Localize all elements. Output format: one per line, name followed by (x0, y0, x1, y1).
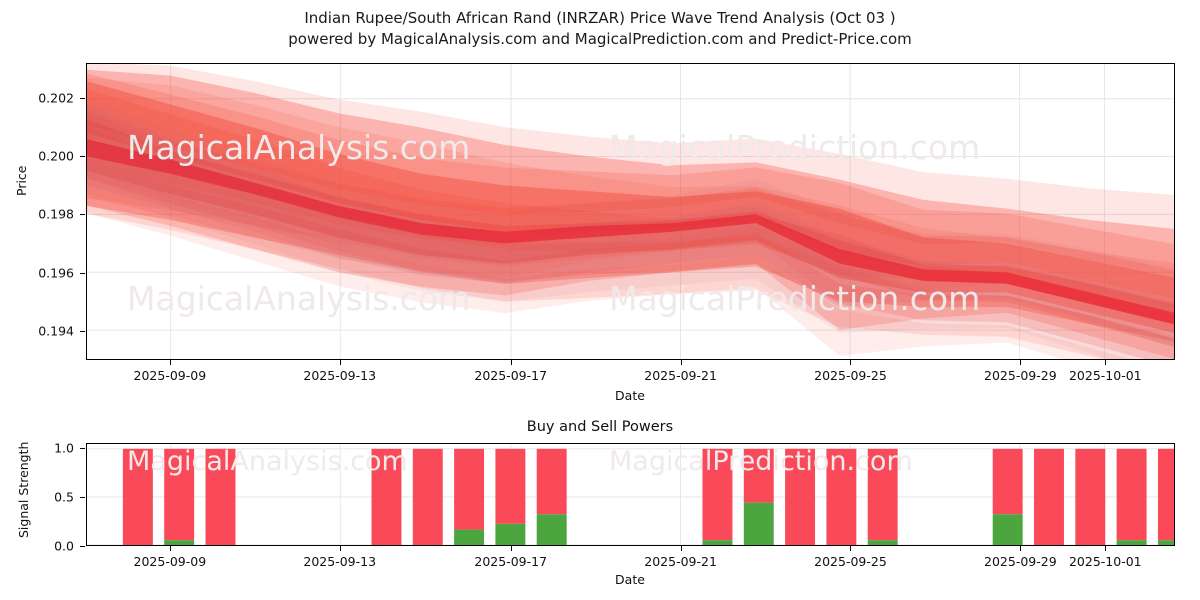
chart-title-block: Indian Rupee/South African Rand (INRZAR)… (0, 8, 1200, 50)
buy-power-bar[interactable] (1158, 540, 1174, 545)
buy-power-bar[interactable] (454, 530, 484, 545)
sell-power-bar[interactable] (371, 449, 401, 545)
price-x-tick-mark (1105, 360, 1106, 365)
price-y-tick-label: 0.196 (0, 265, 74, 280)
sell-power-bar[interactable] (537, 449, 567, 514)
chart-page: Indian Rupee/South African Rand (INRZAR)… (0, 0, 1200, 600)
sell-power-bar[interactable] (1075, 449, 1105, 545)
signal-x-tick-mark (340, 546, 341, 551)
price-x-tick-mark (340, 360, 341, 365)
signal-x-tick-mark (850, 546, 851, 551)
price-x-tick-mark (850, 360, 851, 365)
sell-power-bar[interactable] (1158, 449, 1174, 540)
buy-power-bar[interactable] (993, 514, 1023, 545)
signal-y-tick-mark (80, 448, 85, 449)
price-x-tick-label: 2025-09-29 (984, 368, 1057, 383)
sell-power-bar[interactable] (206, 449, 236, 545)
price-x-tick-label: 2025-10-01 (1069, 368, 1142, 383)
price-y-tick-mark (80, 273, 85, 274)
sell-power-bar[interactable] (164, 449, 194, 540)
buy-power-bar[interactable] (164, 540, 194, 545)
signal-x-tick-label: 2025-09-09 (134, 554, 207, 569)
price-x-tick-mark (170, 360, 171, 365)
price-x-tick-label: 2025-09-17 (474, 368, 547, 383)
signal-x-tick-label: 2025-10-01 (1069, 554, 1142, 569)
sell-power-bar[interactable] (785, 449, 815, 545)
signal-x-tick-mark (681, 546, 682, 551)
price-y-tick-label: 0.202 (0, 90, 74, 105)
buy-sell-powers-svg (87, 444, 1174, 545)
buy-power-bar[interactable] (744, 503, 774, 545)
price-y-tick-mark (80, 98, 85, 99)
price-wave-svg (87, 64, 1174, 359)
signal-y-tick-mark (80, 497, 85, 498)
buy-power-bar[interactable] (702, 540, 732, 545)
price-x-tick-label: 2025-09-25 (814, 368, 887, 383)
price-wave-plot-area: MagicalAnalysis.com MagicalPrediction.co… (86, 63, 1175, 360)
page-title: Indian Rupee/South African Rand (INRZAR)… (0, 8, 1200, 29)
signal-x-axis-label: Date (615, 572, 645, 587)
buy-power-bar[interactable] (537, 514, 567, 545)
sell-power-bar[interactable] (413, 449, 443, 545)
sell-power-bar[interactable] (826, 449, 856, 545)
price-y-tick-mark (80, 214, 85, 215)
price-y-tick-label: 0.194 (0, 323, 74, 338)
signal-x-tick-label: 2025-09-25 (814, 554, 887, 569)
signal-x-tick-mark (170, 546, 171, 551)
signal-x-tick-mark (511, 546, 512, 551)
page-subtitle: powered by MagicalAnalysis.com and Magic… (0, 29, 1200, 50)
signal-y-tick-mark (80, 546, 85, 547)
price-y-tick-mark (80, 156, 85, 157)
price-x-tick-label: 2025-09-09 (134, 368, 207, 383)
signal-x-tick-mark (1020, 546, 1021, 551)
signal-x-tick-label: 2025-09-13 (303, 554, 376, 569)
signal-y-tick-label: 1.0 (0, 440, 74, 455)
price-x-tick-mark (681, 360, 682, 365)
sell-power-bar[interactable] (123, 449, 153, 545)
price-y-axis-label: Price (14, 166, 29, 197)
sell-power-bar[interactable] (702, 449, 732, 540)
sell-power-bar[interactable] (495, 449, 525, 524)
price-y-tick-label: 0.200 (0, 149, 74, 164)
price-y-tick-mark (80, 331, 85, 332)
sell-power-bar[interactable] (868, 449, 898, 540)
sell-power-bar[interactable] (454, 449, 484, 530)
signal-x-tick-label: 2025-09-29 (984, 554, 1057, 569)
sell-power-bar[interactable] (744, 449, 774, 503)
buy-power-bar[interactable] (868, 540, 898, 545)
price-x-tick-label: 2025-09-13 (303, 368, 376, 383)
signal-chart-title: Buy and Sell Powers (0, 419, 1200, 435)
price-x-tick-mark (511, 360, 512, 365)
signal-y-tick-label: 0.0 (0, 539, 74, 554)
buy-power-bar[interactable] (495, 524, 525, 545)
signal-x-tick-label: 2025-09-17 (474, 554, 547, 569)
price-x-axis-label: Date (615, 388, 645, 403)
buy-sell-powers-plot-area: MagicalAnalysis.com MagicalPrediction.co… (86, 443, 1175, 546)
signal-x-tick-mark (1105, 546, 1106, 551)
sell-power-bar[interactable] (993, 449, 1023, 514)
signal-y-tick-label: 0.5 (0, 489, 74, 504)
sell-power-bar[interactable] (1034, 449, 1064, 545)
price-x-tick-mark (1020, 360, 1021, 365)
price-y-tick-label: 0.198 (0, 207, 74, 222)
sell-power-bar[interactable] (1117, 449, 1147, 540)
signal-x-tick-label: 2025-09-21 (644, 554, 717, 569)
price-x-tick-label: 2025-09-21 (644, 368, 717, 383)
buy-power-bar[interactable] (1117, 540, 1147, 545)
